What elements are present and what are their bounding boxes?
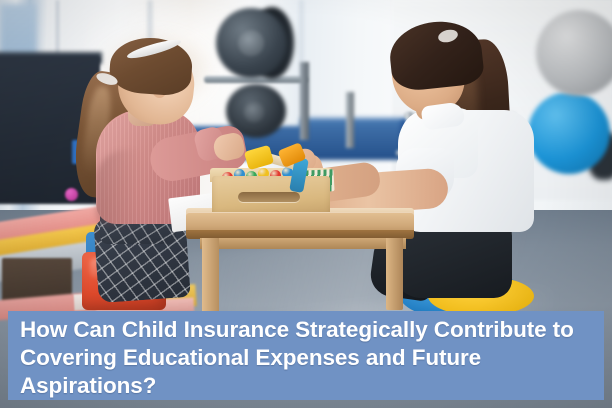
table-leg [202,238,219,314]
caption-headline: How Can Child Insurance Strategically Co… [20,316,604,400]
exercise-ball-gray [536,10,612,96]
weight-plate-hub [238,30,264,56]
exercise-ball-blue [528,92,610,174]
small-magenta-ball [65,188,78,201]
weight-plate-hub [244,102,264,122]
child-torso-shadow [96,150,138,226]
pounding-toy-handle-slot [238,192,300,202]
weight-rack-post [300,62,309,140]
article-hero-image: How Can Child Insurance Strategically Co… [0,0,612,408]
weight-rack-post [346,92,354,148]
caption-overlay-banner: How Can Child Insurance Strategically Co… [8,311,604,400]
table-leg [386,238,403,310]
table-apron [200,238,406,249]
